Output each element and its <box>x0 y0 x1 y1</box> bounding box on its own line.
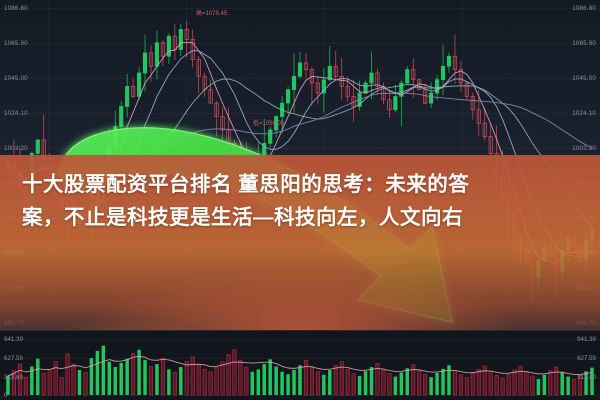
volume-axis-label-right: 941.39 <box>577 336 596 343</box>
headline-line-2: 案，不止是科技更是生活—科技向左，人文向右 <box>22 201 578 234</box>
price-axis-label-left: 1045.00 <box>4 75 28 82</box>
low-price-annotation: 低=1056.05 <box>253 118 284 127</box>
price-axis-label-right: 1024.10 <box>572 110 596 117</box>
price-axis-label-right: 1045.00 <box>572 75 596 82</box>
volume-bar-series <box>0 331 600 400</box>
high-price-annotation: 高=1079.45 <box>196 8 227 17</box>
price-axis-label-right: 1065.90 <box>572 40 596 47</box>
volume-axis-label-left: 627.59 <box>4 355 23 362</box>
price-axis-label-left: 1065.90 <box>4 40 28 47</box>
price-axis-label-right: 1003.20 <box>572 145 596 152</box>
stock-chart-screenshot: 1086.80 1065.90 1045.00 1024.10 1003.20 … <box>0 0 600 400</box>
volume-axis-label-right: 627.59 <box>577 355 596 362</box>
headline-line-1: 十大股票配资平台排名 董思阳的思考：未来的答 <box>22 168 578 201</box>
volume-axis-label-left: 941.39 <box>4 336 23 343</box>
price-axis-label-right: 1086.80 <box>572 5 596 12</box>
volume-axis-label-left: 313.80 <box>4 374 23 381</box>
volume-axis-label-right: 313.80 <box>577 374 596 381</box>
volume-axis-label-left: 0 <box>4 392 7 399</box>
price-axis-label-left: 1003.20 <box>4 145 28 152</box>
price-axis-label-left: 1024.10 <box>4 110 28 117</box>
volume-chart-panel[interactable]: 941.39 627.59 313.80 0 941.39 627.59 313… <box>0 330 600 400</box>
price-axis-label-left: 1086.80 <box>4 5 28 12</box>
page-title: 十大股票配资平台排名 董思阳的思考：未来的答 案，不止是科技更是生活—科技向左，… <box>0 168 600 234</box>
